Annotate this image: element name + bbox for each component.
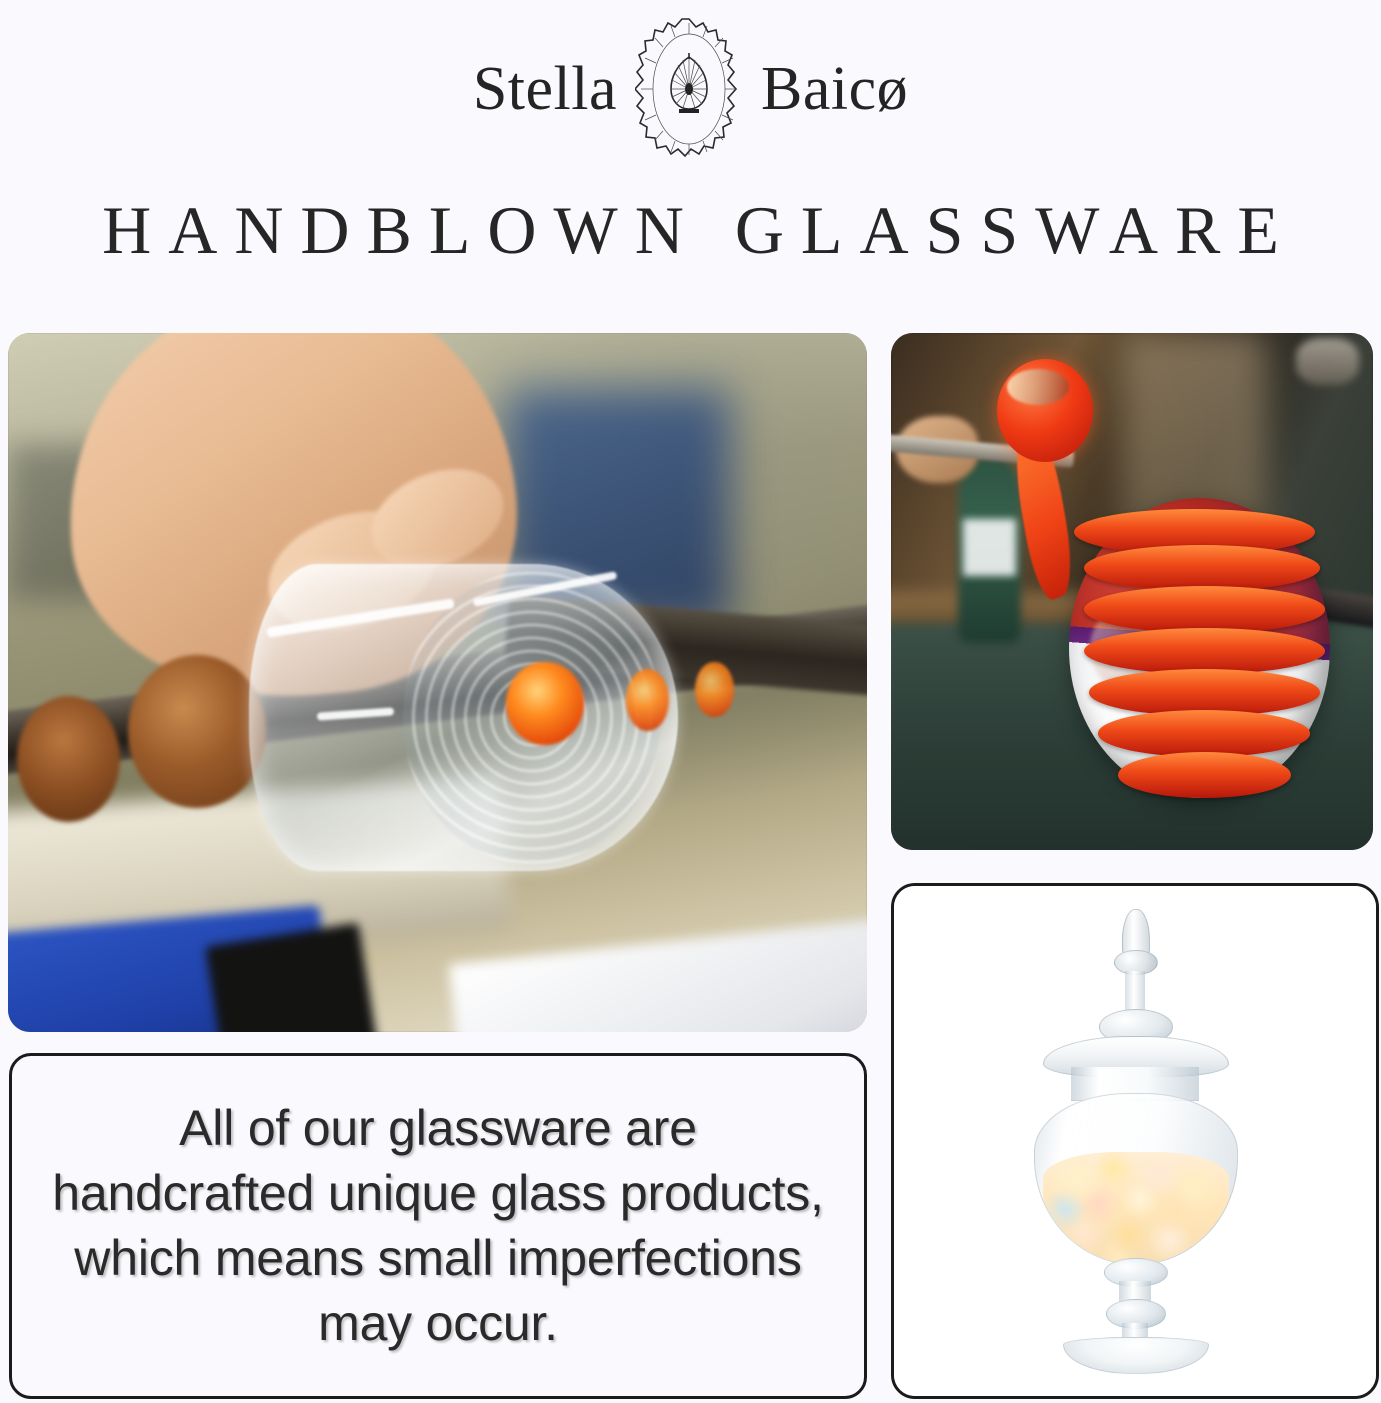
apothecary-jar-photo	[891, 883, 1379, 1399]
molten-coil-6	[1098, 710, 1310, 757]
molten-coil-2	[1084, 545, 1320, 592]
molten-coil-7	[1118, 752, 1292, 799]
jar-foot	[1063, 1337, 1210, 1374]
molten-coil-4	[1084, 628, 1325, 675]
orange-hot-glass-one	[506, 662, 583, 746]
photo-main-scene	[8, 333, 867, 1032]
molten-gather-outer	[17, 696, 120, 822]
molten-glass-trailing-photo	[891, 333, 1373, 850]
molten-gather-inner	[128, 655, 265, 809]
brand-logo-row: Stella	[0, 14, 1381, 164]
jar-body	[1034, 1093, 1238, 1266]
molten-coil-5	[1089, 669, 1320, 716]
ceiling-lamp	[1296, 338, 1359, 385]
quality-disclaimer-caption: All of our glassware are handcrafted uni…	[9, 1053, 867, 1399]
oval-starburst-emblem-icon	[635, 15, 743, 163]
jar-scene	[894, 886, 1376, 1396]
page-title: HANDBLOWN GLASSWARE	[0, 196, 1381, 264]
brand-name-right: Baicø	[743, 58, 908, 120]
caption-text: All of our glassware are handcrafted uni…	[12, 1096, 864, 1356]
orange-hot-glass-three	[695, 662, 734, 718]
pastel-marshmallow-candy	[1043, 1152, 1229, 1266]
brand-name-left: Stella	[473, 58, 635, 120]
glassblower-shaping-vessel-photo	[8, 333, 867, 1032]
molten-coil-3	[1084, 586, 1325, 633]
photo-molten-scene	[891, 333, 1373, 850]
bottle-label	[963, 519, 1016, 576]
